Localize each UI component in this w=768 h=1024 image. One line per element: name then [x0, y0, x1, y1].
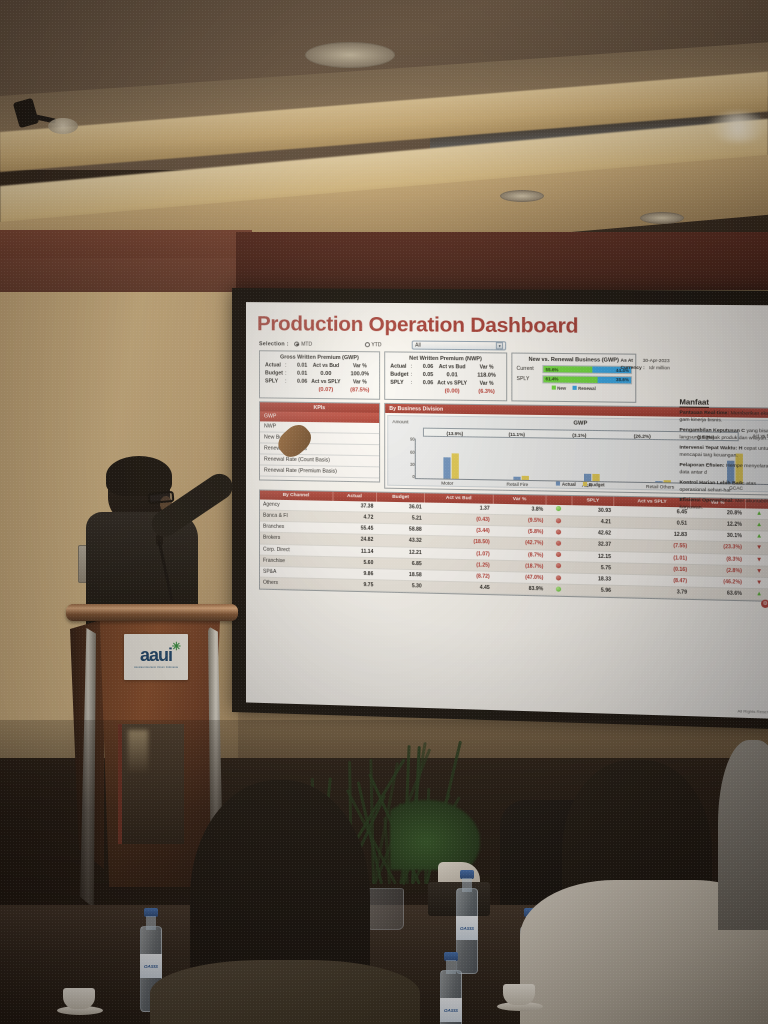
cell-actual: 9.75	[332, 579, 376, 591]
slide-title: Production Operation Dashboard	[257, 312, 768, 340]
chart-bar-group	[513, 440, 529, 480]
cell-sply: 12.15	[572, 550, 615, 562]
chevron-down-icon[interactable]: ▾	[496, 342, 503, 349]
ceiling-downlight	[640, 212, 684, 224]
nwp-budget-value: 0.05	[415, 372, 433, 378]
cell-sply: 32.37	[572, 539, 615, 551]
nvr-current-label: Current	[517, 366, 540, 372]
wall-red-panel-right	[236, 232, 768, 290]
wall-red-panel-left	[0, 230, 252, 292]
radio-mtd-label: MTD	[301, 341, 312, 347]
coffee-cup	[60, 986, 100, 1012]
nwp-var-bud-label: Var %	[471, 364, 502, 370]
trend-arrow-sply: ▼	[745, 542, 768, 554]
audience-member-left-body	[150, 960, 420, 1024]
gear-icon[interactable]: ⚙	[761, 600, 768, 608]
manfaat-item-title: Efisiensi Operasional:	[679, 498, 735, 504]
gwp-sply-label: SPLY	[265, 378, 285, 384]
red-dot-icon	[556, 529, 561, 534]
legend-renewal: Renewal	[572, 385, 595, 390]
red-dot-icon	[556, 518, 561, 523]
chart-bar-group	[443, 439, 458, 479]
gwp-card-grid: Actual : 0.01 Act vs Bud Var % Budget : …	[263, 361, 376, 394]
gwp-var-bud-label: Var %	[345, 363, 375, 369]
drinking-glass	[366, 888, 404, 930]
nvr-current-new-segment: 55.6%	[543, 366, 592, 373]
trend-arrow-sply: ▲	[745, 588, 768, 600]
gwp-card: Gross Written Premium (GWP) Actual : 0.0…	[259, 350, 380, 400]
status-dot-bud	[546, 538, 571, 550]
chart-variance-label: (3.1%)	[548, 431, 611, 439]
gwp-actual-value: 0.01	[289, 362, 307, 368]
cell-actual: 11.14	[332, 545, 376, 557]
as-at-value: 30-Apr-2023	[643, 358, 670, 363]
leaf-star-icon: ✳	[172, 642, 180, 653]
filter-dropdown[interactable]: All ▾	[412, 341, 506, 351]
status-dot-bud	[546, 550, 571, 562]
cell-act-vs-sply: 3.79	[614, 585, 690, 598]
gwp-actual-label: Actual	[265, 362, 285, 368]
red-dot-icon	[556, 575, 561, 580]
trend-arrow-sply: ▼	[745, 577, 768, 589]
manfaat-item-title: Pelaporan Efisien:	[679, 463, 726, 469]
presenter-hair	[106, 456, 172, 496]
gwp-act-vs-sply-value: (0.07)	[307, 387, 344, 393]
chart-bar-budget	[592, 474, 599, 482]
nwp-act-vs-bud-value: 0.01	[433, 372, 471, 378]
plant-foliage	[390, 800, 480, 870]
cell-sply: 5.75	[572, 562, 615, 574]
green-dot-icon	[556, 506, 561, 511]
gwp-act-vs-bud-label: Act vs Bud	[307, 362, 344, 368]
arrow-up-icon: ▲	[756, 534, 762, 540]
chart-bar-budget	[521, 476, 528, 480]
cell-budget: 5.21	[376, 512, 424, 524]
arrow-down-icon: ▼	[756, 545, 762, 551]
gwp-budget-value: 0.01	[289, 370, 307, 376]
kpi-list-item[interactable]: Renewal Rate (Premium Basis)	[260, 466, 379, 479]
manfaat-list: Pantauan Real-time: Memberikan eksekutif…	[679, 411, 768, 514]
table-column-header[interactable]	[546, 496, 571, 505]
nvr-sply-new-segment: 61.4%	[543, 376, 597, 383]
chart-y-axis: 9060300	[394, 437, 414, 480]
aaui-logo-text: aaui✳	[140, 646, 172, 664]
manfaat-item: Pengambilan Keputusan C yang bisa langsu…	[679, 428, 768, 443]
legend-budget: Budget	[583, 482, 605, 487]
cell-actual: 55.45	[332, 523, 376, 535]
manfaat-item: Kontrol Harian Lebih Baik: atas operasio…	[679, 481, 768, 497]
red-dot-icon	[556, 552, 561, 557]
manfaat-item-title: Kontrol Harian Lebih Baik:	[679, 481, 746, 487]
projection-screen: Production Operation Dashboard Selection…	[246, 302, 768, 719]
gwp-sply-value: 0.06	[289, 378, 307, 384]
legend-new: New	[551, 385, 566, 390]
manfaat-item-title: Pengambilan Keputusan C	[679, 428, 746, 434]
mirror-reflection	[128, 730, 148, 772]
cell-budget: 5.30	[376, 580, 424, 592]
ceiling-light-glow	[708, 112, 768, 142]
cup-body	[503, 984, 535, 1005]
nwp-budget-label: Budget	[390, 371, 410, 377]
cell-var-sply: 63.6%	[690, 587, 745, 600]
manfaat-panel: Manfaat Pantauan Real-time: Memberikan e…	[679, 391, 768, 517]
new-vs-renewal-card: New vs. Renewal Business (GWP) Current 5…	[511, 353, 636, 403]
cell-sply: 4.21	[572, 516, 615, 528]
nwp-sply-label: SPLY	[390, 380, 410, 386]
arrow-down-icon: ▼	[756, 557, 762, 563]
rights-text: All Rights Reserved	[738, 708, 768, 714]
selection-label: Selection :	[259, 341, 289, 347]
radio-mtd[interactable]: MTD	[295, 341, 312, 347]
radio-ytd-indicator[interactable]	[365, 342, 370, 347]
manfaat-item: Pelaporan Efisien: Hempe menyelaraskan d…	[679, 463, 768, 479]
new-vs-renewal-legend: New Renewal	[515, 385, 632, 391]
nvr-sply-bar: 61.4% 38.6%	[542, 375, 632, 384]
bottle-label: OASIS	[440, 998, 462, 1022]
arrow-down-icon: ▼	[756, 568, 762, 574]
cell-actual: 24.82	[332, 534, 376, 546]
spotlight-housing	[13, 98, 39, 129]
cell-sply: 5.96	[572, 584, 615, 596]
gwp-act-vs-bud-value: 0.00	[307, 370, 344, 376]
bottle-label: OASIS	[140, 954, 162, 978]
nvr-sply-renewal-segment: 38.6%	[597, 376, 631, 383]
nwp-actual-value: 0.06	[415, 363, 433, 369]
ceiling-downlight	[305, 42, 395, 68]
cup-body	[63, 988, 95, 1009]
aaui-logo-subtitle: Asosiasi Asuransi Umum Indonesia	[134, 666, 178, 669]
chart-bar-budget	[451, 453, 458, 479]
manfaat-heading: Manfaat	[679, 397, 709, 408]
slide-content: Production Operation Dashboard Selection…	[253, 308, 768, 717]
podium-top-rail	[66, 604, 238, 621]
manfaat-item: Efisiensi Operasional: Mer akuntabilitas…	[679, 498, 768, 514]
cell-budget: 58.88	[376, 523, 424, 535]
ceiling-spotlight	[16, 100, 62, 144]
new-vs-renewal-title: New vs. Renewal Business (GWP)	[515, 355, 632, 365]
nwp-act-vs-bud-label: Act vs Bud	[433, 363, 471, 369]
gwp-var-sply-label: Var %	[345, 379, 375, 385]
radio-ytd-label: YTD	[371, 342, 381, 348]
trend-arrow-sply: ▼	[745, 554, 768, 566]
cell-sply: 42.62	[572, 527, 615, 539]
chart-bar-actual	[513, 477, 520, 480]
manfaat-item: Pantauan Real-time: Memberikan eksekutif…	[679, 411, 768, 426]
nwp-act-vs-sply-label: Act vs SPLY	[433, 380, 471, 386]
as-at-block: As At 30-Apr-2023 Currency : Idr million	[621, 358, 670, 373]
cell-var-bud: 83.9%	[493, 583, 547, 596]
gwp-act-vs-sply-label: Act vs SPLY	[307, 379, 344, 385]
chart-bar-actual	[443, 458, 450, 479]
green-dot-icon	[556, 586, 561, 591]
status-dot-bud	[546, 527, 571, 539]
cell-act-vs-bud: 4.45	[425, 581, 493, 594]
currency-value: Idr million	[649, 365, 670, 370]
radio-mtd-indicator[interactable]	[295, 342, 300, 347]
trend-arrow-sply: ▲	[745, 531, 768, 543]
cell-sply: 18.33	[572, 573, 615, 585]
chart-bar-actual	[655, 481, 662, 482]
chart-bar-group	[655, 442, 671, 482]
new-vs-renewal-row-current: Current 55.6% 44.4%	[517, 365, 633, 374]
radio-ytd[interactable]: YTD	[365, 342, 382, 348]
coffee-cup	[500, 982, 540, 1008]
nvr-current-bar: 55.6% 44.4%	[542, 365, 632, 374]
nwp-var-bud-value: 118.0%	[471, 372, 502, 378]
presenter-glasses	[148, 491, 175, 504]
currency-label: Currency :	[621, 365, 645, 370]
status-dot-bud	[546, 584, 571, 596]
trend-arrow-sply: ▲	[745, 519, 768, 531]
nwp-card-grid: Actual : 0.06 Act vs Bud Var % Budget : …	[388, 362, 503, 395]
status-dot-bud	[546, 561, 571, 573]
as-at-label: As At	[621, 358, 633, 363]
filter-dropdown-value: All	[415, 342, 421, 348]
audience-member-far-right	[718, 740, 768, 930]
cell-actual: 4.72	[332, 511, 376, 523]
status-dot-bud	[546, 505, 571, 516]
projection-screen-frame: Production Operation Dashboard Selection…	[232, 288, 768, 729]
gwp-var-sply-value: (87.5%)	[345, 387, 375, 393]
nwp-var-sply-value: (6.3%)	[471, 389, 502, 395]
nwp-var-sply-label: Var %	[471, 380, 502, 386]
nwp-actual-label: Actual	[390, 363, 410, 369]
arrow-up-icon: ▲	[756, 591, 762, 597]
chart-variance-label: (11.1%)	[486, 430, 548, 438]
ceiling-downlight	[500, 190, 544, 202]
manfaat-item-title: Pantauan Real-time:	[679, 411, 730, 417]
gwp-budget-label: Budget	[265, 370, 285, 376]
manfaat-item-title: Intervensi Tepat Waktu: H	[679, 446, 743, 452]
chart-bar-actual	[583, 474, 590, 481]
manfaat-item: Intervensi Tepat Waktu: H cepat untuk me…	[679, 446, 768, 461]
podium-logo-plate: aaui✳ Asosiasi Asuransi Umum Indonesia	[124, 634, 188, 680]
nwp-card: Net Written Premium (NWP) Actual : 0.06 …	[384, 351, 507, 401]
new-vs-renewal-row-sply: SPLY 61.4% 38.6%	[517, 374, 633, 383]
chart-bar-group	[583, 441, 599, 481]
chart-variance-label: (26.2%)	[611, 431, 674, 439]
trend-arrow-sply: ▼	[745, 565, 768, 577]
cell-sply: 30.93	[572, 505, 615, 517]
red-dot-icon	[556, 541, 561, 546]
status-dot-bud	[546, 515, 571, 527]
red-dot-icon	[556, 563, 561, 568]
conference-room-photo: Production Operation Dashboard Selection…	[0, 0, 768, 1024]
nwp-act-vs-sply-value: (0.00)	[433, 388, 471, 395]
legend-actual: Actual	[556, 482, 576, 487]
nwp-sply-value: 0.06	[415, 380, 433, 386]
chart-variance-label: (13.9%)	[424, 429, 486, 437]
status-dot-bud	[546, 572, 571, 584]
bottle-label: OASIS	[456, 916, 478, 940]
gwp-var-bud-value: 100.0%	[345, 371, 375, 377]
cell-channel: Others	[260, 577, 332, 590]
spotlight-lens	[48, 118, 78, 134]
arrow-down-icon: ▼	[756, 580, 762, 586]
arrow-up-icon: ▲	[756, 522, 762, 528]
nvr-sply-label: SPLY	[517, 375, 540, 381]
cell-actual: 5.60	[332, 556, 376, 568]
cell-actual: 37.38	[332, 501, 376, 513]
chart-bar-budget	[663, 481, 670, 483]
